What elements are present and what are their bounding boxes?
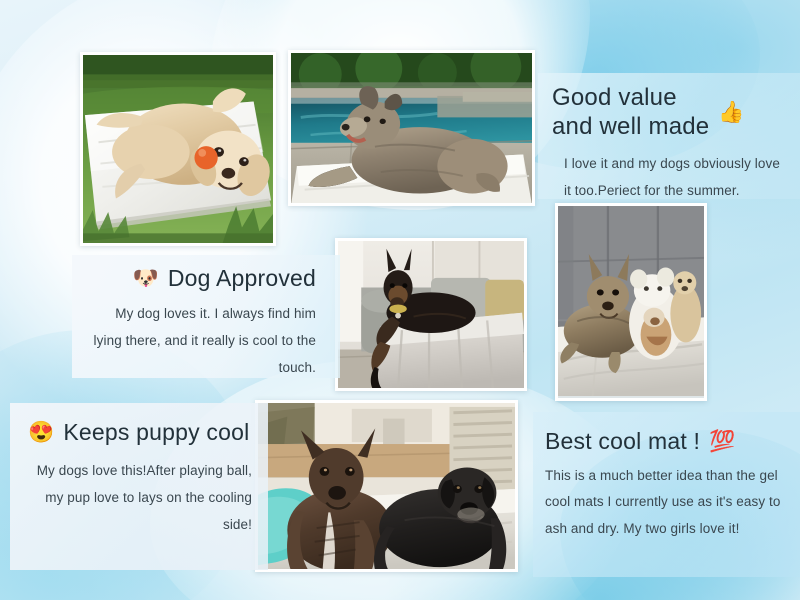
review-collage-canvas: Good value and well made 👍 I love it and… (0, 0, 800, 600)
review-body-good-value: I love it and my dogs obviously love it … (538, 142, 800, 204)
review-card-best-cool-mat: Best cool mat ! 💯 This is a much better … (533, 412, 800, 577)
photo-scruffy-dog-by-pool (288, 50, 535, 206)
hundred-points-icon: 💯 (709, 431, 735, 452)
review-card-keeps-puppy-cool: 😍 Keeps puppy cool My dogs love this!Aft… (10, 403, 268, 570)
review-headline-text: Dog Approved (168, 264, 316, 292)
review-headline-text: Best cool mat ! (545, 427, 700, 455)
photo-golden-doodle-on-mat-grass (80, 52, 276, 246)
review-headline-good-value: Good value and well made 👍 (538, 73, 800, 142)
review-card-good-value: Good value and well made 👍 I love it and… (538, 73, 800, 199)
review-headline-text: Keeps puppy cool (63, 418, 249, 446)
review-body-best-cool-mat: This is a much better idea than the gel … (533, 455, 800, 542)
review-headline-dog-approved: 🐶 Dog Approved (72, 255, 340, 292)
review-headline-text: Good value and well made (552, 83, 709, 142)
photo-2-artwork (291, 53, 532, 205)
review-headline-keeps-puppy-cool: 😍 Keeps puppy cool (10, 403, 268, 446)
review-headline-best-cool-mat: Best cool mat ! 💯 (533, 412, 800, 455)
review-body-dog-approved: My dog loves it. I always find him lying… (72, 292, 340, 381)
photo-terrier-with-plush-toys (555, 203, 707, 401)
photo-doberman-on-couch (335, 238, 527, 391)
smiling-face-with-hearts-eyes-icon: 😍 (28, 422, 54, 443)
review-body-keeps-puppy-cool: My dogs love this!After playing ball, my… (10, 446, 268, 538)
photo-3-artwork (338, 241, 524, 389)
photo-5-artwork (258, 403, 515, 571)
review-card-dog-approved: 🐶 Dog Approved My dog loves it. I always… (72, 255, 340, 378)
dog-face-icon: 🐶 (132, 268, 158, 289)
photo-1-artwork (83, 55, 273, 243)
thumbs-up-icon: 👍 (718, 102, 744, 123)
photo-two-dogs-brindle-and-black (255, 400, 518, 572)
photo-4-artwork (558, 206, 704, 396)
